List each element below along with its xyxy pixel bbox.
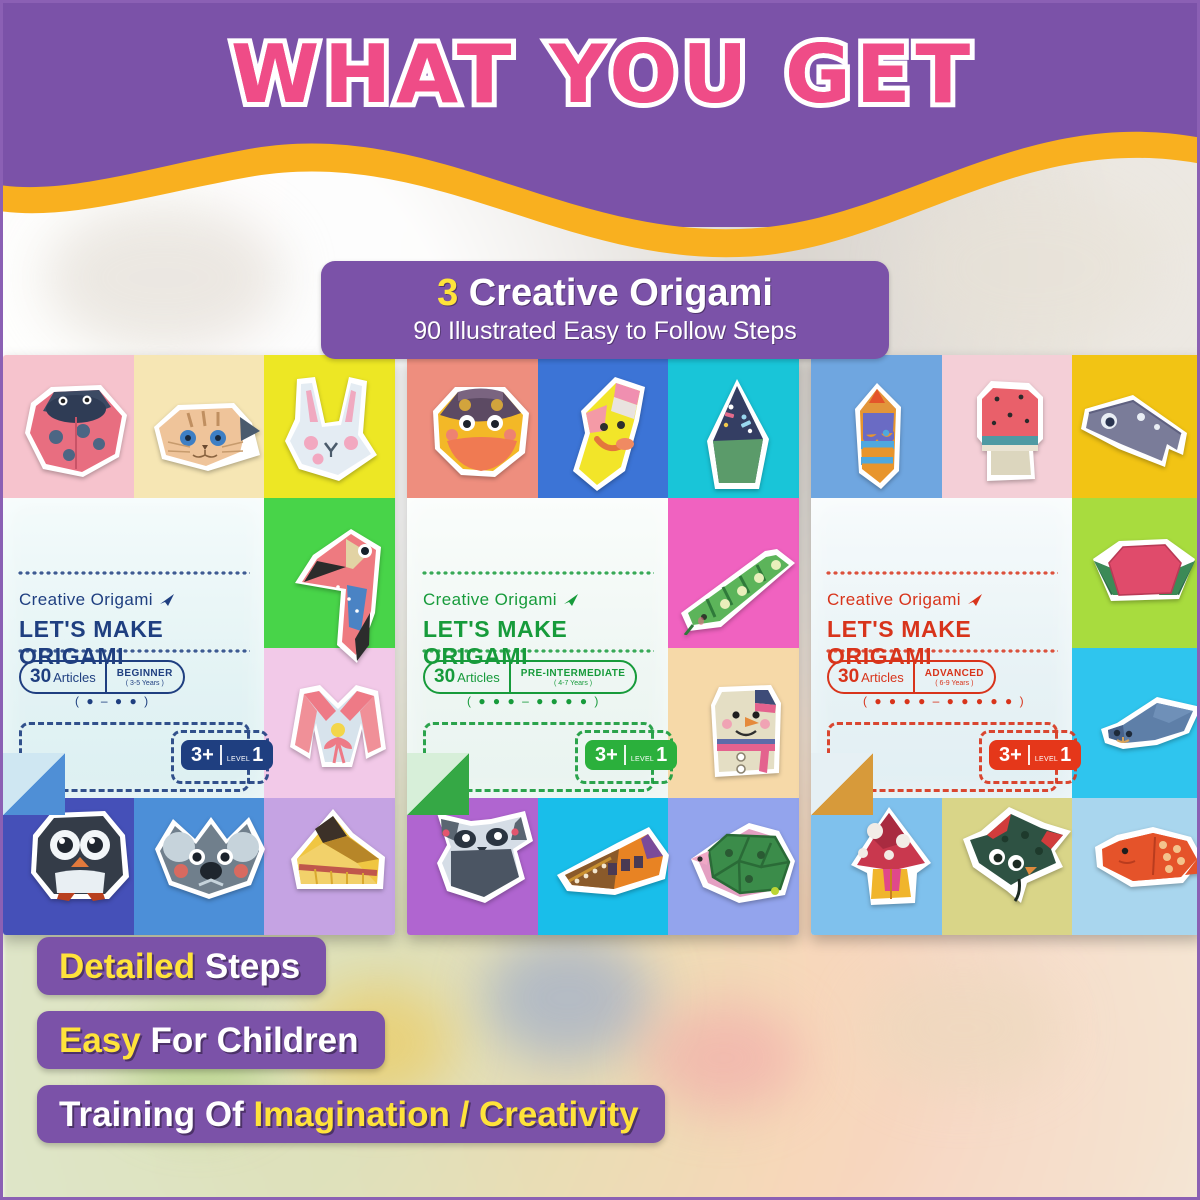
origami-popsicle <box>969 379 1051 485</box>
feature-1-highlight: Detailed <box>59 949 205 984</box>
cover-dot-rule-bottom <box>421 648 654 654</box>
feature-1-text: Steps <box>205 949 300 984</box>
headline-banner: 3 Creative Origami 90 Illustrated Easy t… <box>321 261 889 359</box>
headline-count-rest: Creative Origami <box>458 272 773 314</box>
age-level-badge: 3+ LEVEL1 <box>989 740 1081 770</box>
age-level-badge: 3+ LEVEL1 <box>181 740 273 770</box>
cover-dot-rule-top <box>421 570 654 576</box>
origami-cat <box>148 397 263 475</box>
background-bokeh <box>483 933 653 1063</box>
headline-count: 3 <box>437 272 458 314</box>
origami-mushroom <box>839 805 943 909</box>
origami-koala <box>151 809 269 901</box>
book-pre-intermediate[interactable]: Creative Origami LET'S MAKE ORIGAMI 30Ar… <box>407 355 799 935</box>
difficulty-stars: ( ● ● ● – ● ● ● ● ) <box>467 694 600 708</box>
origami-parrot <box>291 527 385 667</box>
origami-dinosaur <box>959 805 1077 905</box>
cover-dot-rule-bottom <box>17 648 250 654</box>
articles-level-badge: 30Articles BEGINNER( 3-5 Years ) <box>19 660 185 694</box>
origami-whale <box>1079 393 1195 473</box>
origami-turtle <box>687 821 799 907</box>
cover-brand: Creative Origami <box>423 590 579 610</box>
feature-detailed-steps: Detailed Steps <box>37 937 326 995</box>
cover-dot-rule-bottom <box>825 648 1058 654</box>
origami-rabbit <box>281 375 381 490</box>
infographic-canvas: WHAT YOU GET WHAT YOU GET 3 Creative Ori… <box>0 0 1200 1200</box>
origami-seal <box>1097 693 1200 769</box>
feature-training-imagination: Training Of Imagination / Creativity <box>37 1085 665 1143</box>
folded-corner <box>407 753 469 815</box>
background-bokeh <box>43 203 283 353</box>
background-bokeh <box>863 963 1063 1093</box>
origami-banana-character <box>559 375 659 495</box>
folded-corner <box>3 753 65 815</box>
feature-3-highlight: Imagination / Creativity <box>253 1097 638 1132</box>
origami-kimono <box>286 683 391 775</box>
origami-fish <box>1089 825 1200 895</box>
origami-penguin <box>25 807 135 907</box>
paper-plane-icon <box>159 594 175 606</box>
book-advanced[interactable]: Creative Origami LET'S MAKE ORIGAMI 30Ar… <box>811 355 1200 935</box>
folded-corner <box>811 753 873 815</box>
origami-christmas-tree <box>697 377 777 495</box>
origami-ladybug <box>21 381 131 481</box>
age-level-badge: 3+ LEVEL1 <box>585 740 677 770</box>
cover-dot-rule-top <box>17 570 250 576</box>
articles-level-badge: 30Articles ADVANCED( 6-9 Years ) <box>827 660 996 694</box>
feature-3-text: Training Of <box>59 1097 253 1132</box>
paper-plane-icon <box>967 594 983 606</box>
origami-snowman <box>703 681 787 781</box>
origami-boat <box>555 825 673 903</box>
headline-line-2: 90 Illustrated Easy to Follow Steps <box>413 316 797 346</box>
feature-easy-for-children: Easy For Children <box>37 1011 385 1069</box>
book-beginner[interactable]: Creative Origami LET'S MAKE ORIGAMI 30Ar… <box>3 355 395 935</box>
cover-dot-rule-top <box>825 570 1058 576</box>
cover-brand: Creative Origami <box>827 590 983 610</box>
page-title: WHAT YOU GET <box>3 33 1200 117</box>
feature-2-text: For Children <box>150 1023 358 1058</box>
product-books-row: Creative Origami LET'S MAKE ORIGAMI 30Ar… <box>3 355 1200 945</box>
background-bokeh <box>643 1003 803 1113</box>
origami-lotus-flower <box>1089 537 1200 609</box>
origami-ice-cream-cone <box>841 381 915 493</box>
background-bokeh <box>903 183 1163 353</box>
origami-panda <box>425 807 537 907</box>
feature-2-highlight: Easy <box>59 1023 150 1058</box>
headline-line-1: 3 Creative Origami <box>437 274 773 314</box>
articles-level-badge: 30Articles PRE-INTERMEDIATE( 4-7 Years ) <box>423 660 637 694</box>
paper-plane-icon <box>563 594 579 606</box>
difficulty-stars: ( ● ● ● ● – ● ● ● ● ● ) <box>863 694 1026 708</box>
difficulty-stars: ( ● – ● ● ) <box>75 694 150 708</box>
origami-monkey-face <box>429 383 533 481</box>
cover-brand: Creative Origami <box>19 590 175 610</box>
origami-cake-slice <box>285 807 390 899</box>
origami-caterpillar <box>677 547 797 635</box>
